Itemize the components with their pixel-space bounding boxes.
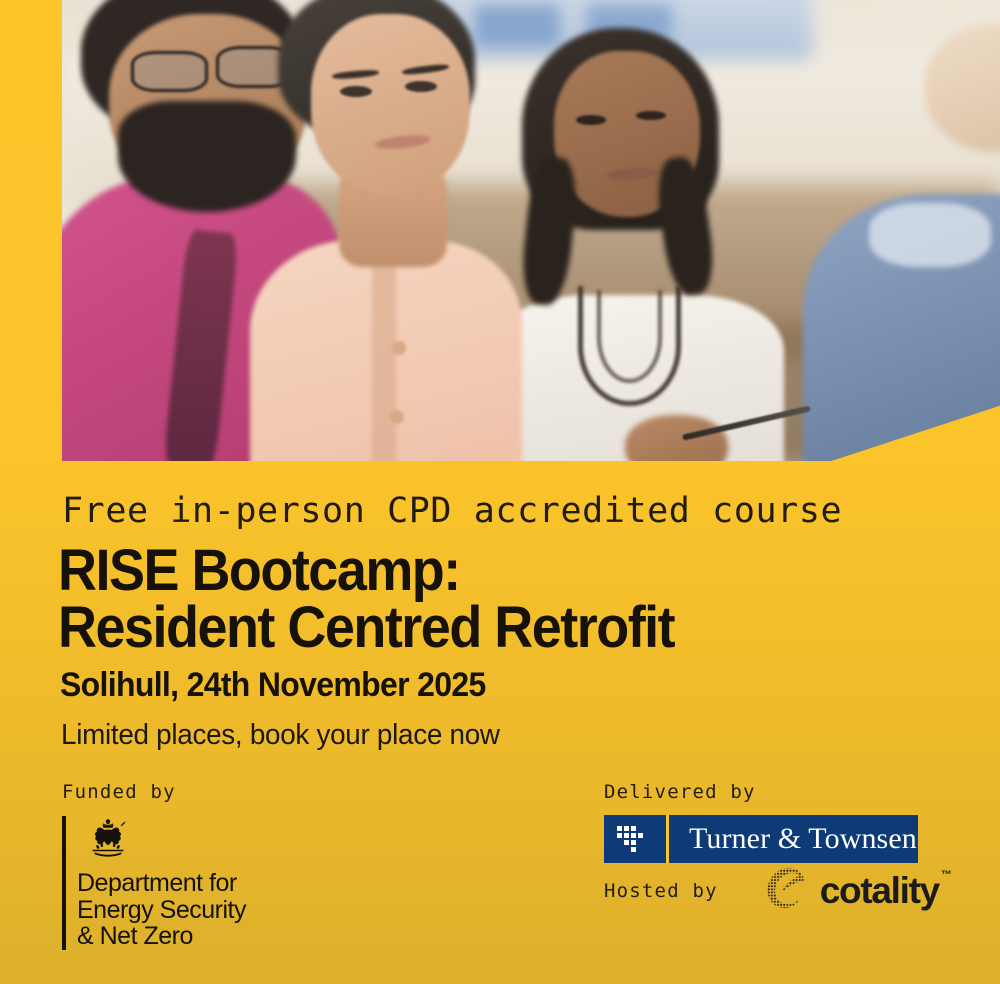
hosted-by-block: Hosted by [604, 863, 952, 918]
turner-and-townsend-mark-icon [604, 815, 666, 863]
funded-by-block: Funded by [62, 781, 246, 950]
course-eyebrow-text: Free in-person CPD accredited course [62, 491, 842, 531]
hosted-by-label: Hosted by [604, 880, 718, 902]
photo-background-screen-left [475, 5, 559, 46]
dot-matrix-icon [617, 826, 653, 859]
desnz-name-line-2: Energy Security [77, 897, 246, 924]
desnz-logo: Department for Energy Security & Net Zer… [62, 816, 246, 950]
desnz-vertical-rule [62, 816, 66, 950]
photo-person-2-blouse-placket [372, 254, 396, 461]
photo-person-2-face [311, 14, 470, 194]
photo-person-4-collar [869, 203, 991, 268]
photo-person-3-necklace-inner [597, 290, 663, 382]
event-location-date: Solihull, 24th November 2025 [60, 666, 486, 705]
cotality-logo: cotality ™ [761, 863, 952, 918]
desnz-name-line-3: & Net Zero [77, 923, 246, 950]
trademark-symbol: ™ [941, 869, 952, 881]
cotality-c-swirl-icon [761, 863, 811, 918]
cotality-wordmark: cotality [820, 870, 939, 912]
photo-person-1-beard [118, 101, 296, 212]
royal-coat-of-arms-crest-icon [79, 818, 246, 863]
turner-and-townsend-wordmark: Turner & Townsend [673, 815, 918, 863]
desnz-name-line-1: Department for [77, 870, 246, 897]
funded-by-label: Funded by [62, 781, 246, 803]
desnz-logo-body: Department for Energy Security & Net Zer… [77, 816, 246, 950]
delivered-by-block: Delivered by [604, 781, 918, 863]
delivered-by-label: Delivered by [604, 781, 918, 803]
turner-and-townsend-logo: Turner & Townsend [604, 815, 918, 863]
page-title: RISE Bootcamp: Resident Centred Retrofit [58, 543, 674, 657]
booking-tagline: Limited places, book your place now [61, 719, 500, 752]
photo-person-2-eye-left [340, 86, 372, 97]
photo-person-1-glasses-left [131, 51, 208, 92]
hero-photo [62, 0, 1000, 461]
hero-photo-image [62, 0, 1000, 461]
page-title-line-2: Resident Centred Retrofit [58, 600, 674, 657]
promotional-poster: Free in-person CPD accredited course RIS… [0, 0, 1000, 984]
photo-person-3-eye-left [576, 115, 606, 125]
page-title-line-1: RISE Bootcamp: [58, 538, 460, 603]
photo-hand [625, 415, 728, 461]
